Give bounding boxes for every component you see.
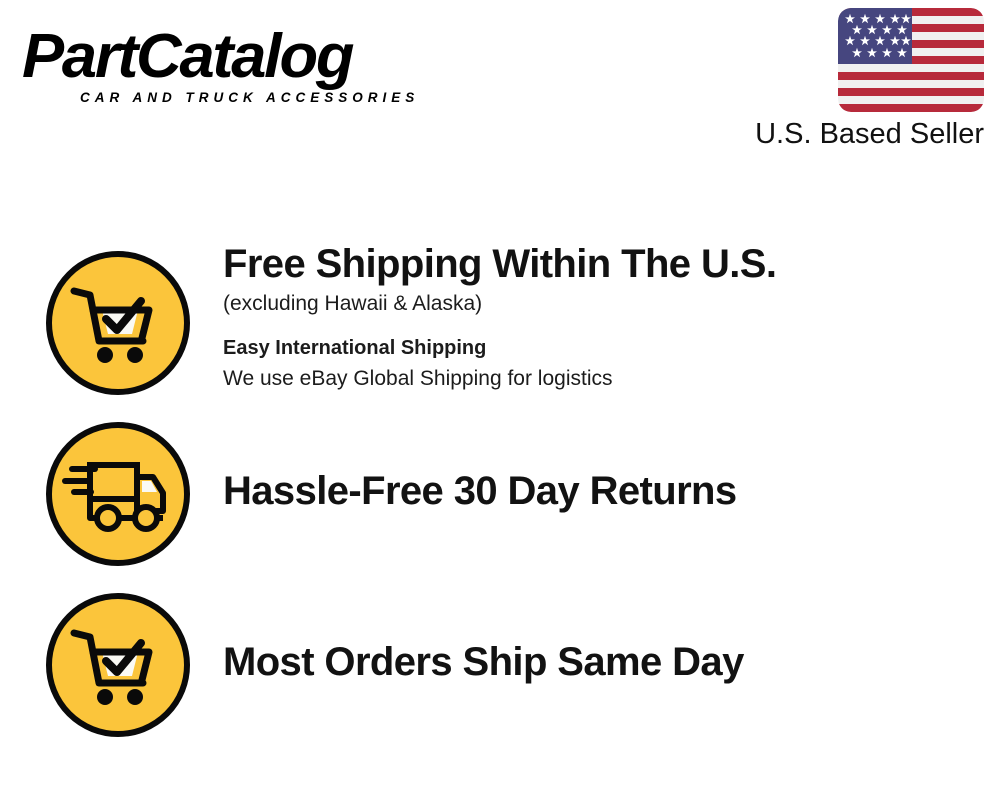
us-based-seller-block: U.S. Based Seller bbox=[838, 8, 986, 112]
feature-title: Free Shipping Within The U.S. bbox=[223, 240, 963, 288]
feature-title: Most Orders Ship Same Day bbox=[223, 638, 963, 686]
feature-subtitle-exclusions: (excluding Hawaii & Alaska) bbox=[223, 289, 963, 319]
feature-text-block: Hassle-Free 30 Day Returns bbox=[223, 411, 963, 515]
us-based-seller-label: U.S. Based Seller bbox=[755, 118, 984, 151]
partcatalog-logo: PartCatalog CAR AND TRUCK ACCESSORIES bbox=[22, 22, 492, 114]
fast-delivery-truck-icon bbox=[43, 419, 193, 569]
feature-text-block: Free Shipping Within The U.S. (excluding… bbox=[223, 240, 963, 394]
us-flag-icon bbox=[838, 8, 984, 112]
brand-tagline: CAR AND TRUCK ACCESSORIES bbox=[80, 90, 492, 105]
feature-subtitle-international-detail: We use eBay Global Shipping for logistic… bbox=[223, 364, 963, 394]
brand-wordmark: PartCatalog bbox=[22, 22, 501, 92]
shopping-cart-check-icon bbox=[43, 248, 193, 398]
shopping-cart-check-icon bbox=[43, 590, 193, 740]
feature-subtitle-international-heading: Easy International Shipping bbox=[223, 333, 963, 363]
feature-title: Hassle-Free 30 Day Returns bbox=[223, 467, 963, 515]
feature-text-block: Most Orders Ship Same Day bbox=[223, 582, 963, 686]
shipping-info-banner: PartCatalog CAR AND TRUCK ACCESSORIES bbox=[0, 0, 1000, 800]
banner-header: PartCatalog CAR AND TRUCK ACCESSORIES bbox=[0, 0, 1000, 170]
